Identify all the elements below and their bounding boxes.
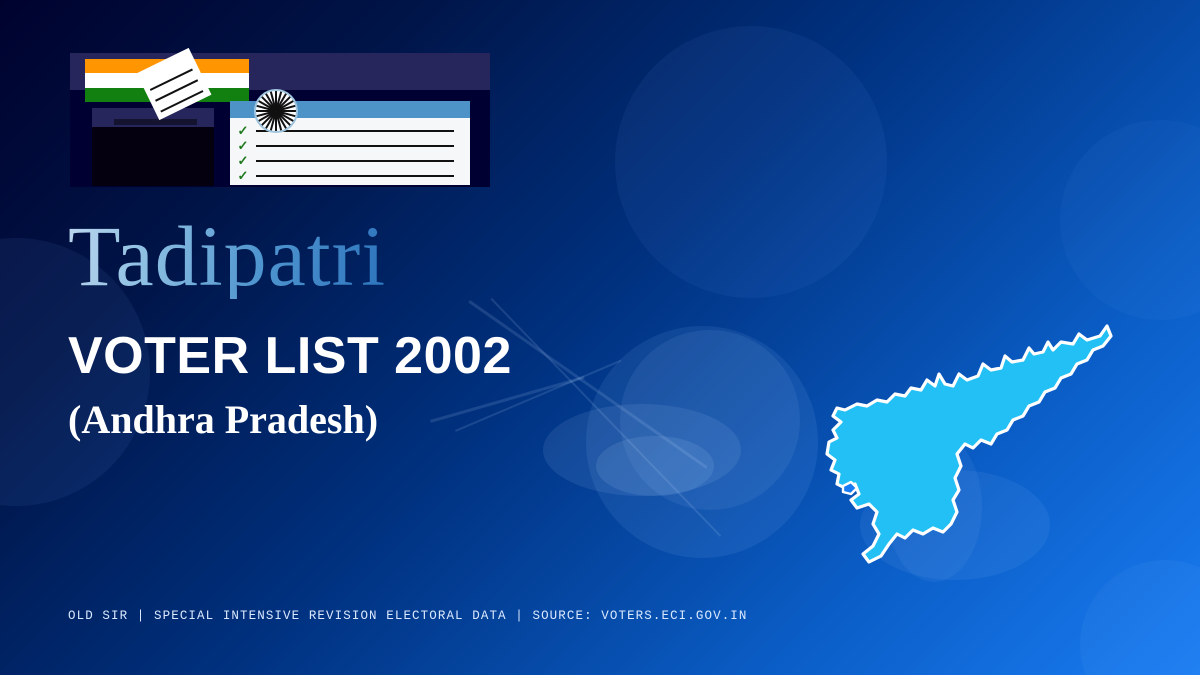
background-circle-decoration	[586, 326, 818, 558]
checklist-rows: ✓✓✓✓	[230, 123, 470, 183]
check-icon: ✓	[230, 154, 256, 167]
andhra-pradesh-map-shape	[827, 326, 1111, 562]
checklist-row: ✓	[230, 168, 470, 183]
checklist-row: ✓	[230, 153, 470, 168]
footer-source-text: OLD SIR | SPECIAL INTENSIVE REVISION ELE…	[68, 609, 748, 623]
check-icon: ✓	[230, 169, 256, 182]
background-circle-decoration	[620, 330, 800, 510]
background-ellipse-decoration	[543, 404, 741, 496]
page-subtitle: VOTER LIST 2002	[68, 330, 512, 382]
background-ellipse-decoration	[596, 436, 714, 496]
check-icon: ✓	[230, 124, 256, 137]
election-illustration-panel: ✓✓✓✓	[70, 53, 490, 187]
ballot-paper-line	[150, 69, 193, 91]
check-icon: ✓	[230, 139, 256, 152]
page-region-label: (Andhra Pradesh)	[68, 400, 378, 440]
checklist-line	[256, 160, 454, 162]
background-circle-decoration	[615, 26, 887, 298]
ballot-box-body	[92, 127, 214, 186]
checklist-row: ✓	[230, 138, 470, 153]
background-circle-decoration	[1060, 120, 1200, 320]
swoosh-line-decoration	[491, 298, 722, 537]
checklist-line	[256, 145, 454, 147]
ballot-box-icon	[92, 108, 214, 186]
ashoka-chakra-icon	[254, 89, 298, 133]
page-title: Tadipatri	[68, 213, 386, 299]
checklist-line	[256, 175, 454, 177]
andhra-pradesh-map	[815, 318, 1115, 583]
ballot-box-slot	[114, 119, 197, 125]
slide-canvas: ✓✓✓✓ Tadipatri VOTER LIST 2002 (Andhra P…	[0, 0, 1200, 675]
